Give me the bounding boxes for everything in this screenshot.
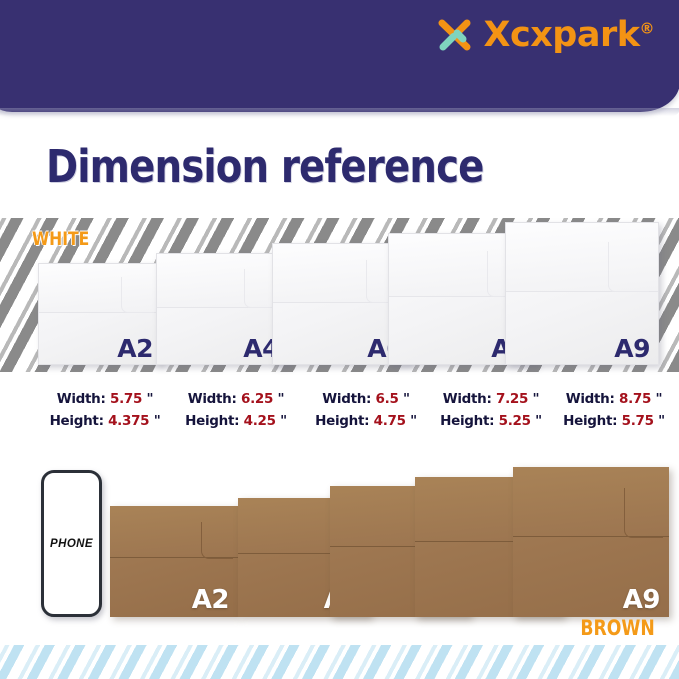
width-label: Width: — [566, 391, 615, 407]
unit-symbol: " — [403, 391, 410, 407]
height-label: Height: — [185, 413, 239, 429]
dimension-group-a2: Width: 5.75 " Height: 4.375 " — [40, 388, 170, 432]
width-label: Width: — [188, 391, 237, 407]
unit-symbol: " — [154, 413, 161, 429]
height-line: Height: 4.75 " — [303, 410, 429, 432]
unit-symbol: " — [658, 413, 665, 429]
phone-size-reference: PHONE — [41, 470, 102, 617]
envelope-white-a2[interactable]: A2 — [38, 263, 162, 365]
brand-name-text: Xcxpark — [483, 15, 639, 55]
width-value: 5.75 — [110, 391, 142, 407]
unit-symbol: " — [533, 391, 540, 407]
unit-symbol: " — [278, 391, 285, 407]
height-label: Height: — [440, 413, 494, 429]
unit-symbol: " — [147, 391, 154, 407]
envelope-code: A9 — [614, 334, 650, 363]
envelope-code: A2 — [117, 334, 153, 363]
dimension-group-a6: Width: 6.5 " Height: 4.75 " — [303, 388, 429, 432]
width-label: Width: — [322, 391, 371, 407]
brand-name: Xcxpark® — [483, 18, 654, 53]
header-banner: Xcxpark® — [0, 0, 679, 112]
width-line: Width: 8.75 " — [551, 388, 677, 410]
envelope-flap — [157, 254, 287, 308]
width-line: Width: 6.25 " — [172, 388, 300, 410]
height-value: 5.25 — [499, 413, 531, 429]
height-label: Height: — [315, 413, 369, 429]
envelope-white-a9[interactable]: A9 — [505, 222, 659, 365]
registered-trademark-icon: ® — [640, 19, 655, 37]
envelope-code: A2 — [192, 585, 229, 615]
width-value: 6.5 — [376, 391, 399, 407]
unit-symbol: " — [410, 413, 417, 429]
page-title: Dimension reference — [46, 140, 484, 193]
infographic-page: Xcxpark® Dimension reference WHITE A2 A4… — [0, 0, 679, 679]
height-value: 4.375 — [108, 413, 149, 429]
dimension-group-a4: Width: 6.25 " Height: 4.25 " — [172, 388, 300, 432]
height-value: 4.25 — [244, 413, 276, 429]
width-value: 6.25 — [241, 391, 273, 407]
height-label: Height: — [563, 413, 617, 429]
envelope-flap — [513, 467, 669, 537]
envelope-brown-a9[interactable]: A9 — [513, 467, 669, 617]
width-line: Width: 6.5 " — [303, 388, 429, 410]
unit-symbol: " — [280, 413, 287, 429]
envelope-white-a4[interactable]: A4 — [156, 253, 288, 365]
dimension-group-a7: Width: 7.25 " Height: 5.25 " — [428, 388, 554, 432]
blue-stripe-background — [0, 645, 679, 679]
height-line: Height: 5.75 " — [551, 410, 677, 432]
width-value: 7.25 — [496, 391, 528, 407]
width-line: Width: 7.25 " — [428, 388, 554, 410]
width-label: Width: — [57, 391, 106, 407]
section-label-brown: BROWN — [581, 616, 655, 640]
height-line: Height: 4.25 " — [172, 410, 300, 432]
phone-label: PHONE — [44, 473, 99, 614]
envelope-brown-a2[interactable]: A2 — [110, 506, 238, 617]
envelope-flap — [110, 506, 238, 558]
unit-symbol: " — [656, 391, 663, 407]
width-value: 8.75 — [619, 391, 651, 407]
section-label-white: WHITE — [32, 228, 89, 250]
width-line: Width: 5.75 " — [40, 388, 170, 410]
dimension-group-a9: Width: 8.75 " Height: 5.75 " — [551, 388, 677, 432]
unit-symbol: " — [535, 413, 542, 429]
height-value: 5.75 — [622, 413, 654, 429]
envelope-flap — [506, 223, 658, 292]
dimension-text-row: Width: 5.75 " Height: 4.375 " Width: 6.2… — [0, 388, 679, 442]
height-line: Height: 5.25 " — [428, 410, 554, 432]
x-mark-logo-icon — [436, 16, 474, 54]
height-line: Height: 4.375 " — [40, 410, 170, 432]
height-value: 4.75 — [374, 413, 406, 429]
envelope-code: A9 — [623, 585, 660, 615]
width-label: Width: — [443, 391, 492, 407]
white-envelope-row: A2 A4 A6 A7 A9 — [0, 218, 679, 372]
envelope-flap — [39, 264, 161, 313]
height-label: Height: — [50, 413, 104, 429]
brand-logo: Xcxpark® — [436, 16, 654, 54]
